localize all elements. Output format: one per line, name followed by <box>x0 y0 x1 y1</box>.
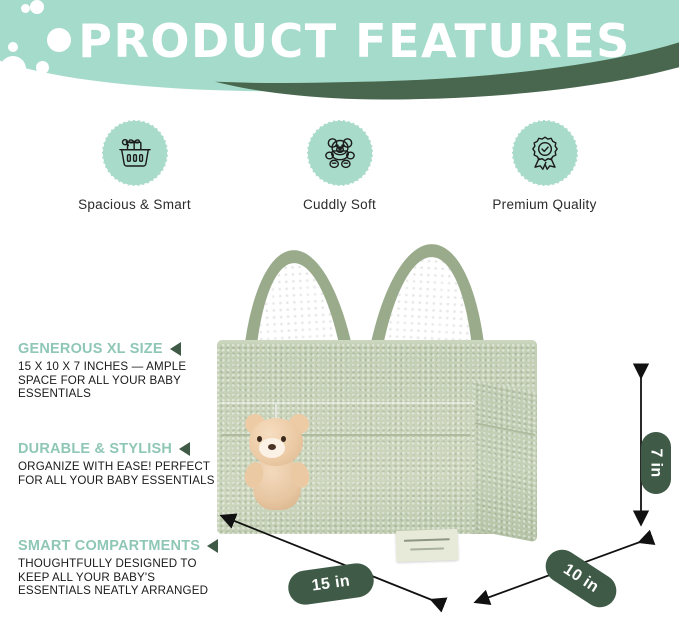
feature-body: ORGANIZE WITH EASE! PERFECT FOR ALL YOUR… <box>18 460 218 487</box>
decorative-bubble <box>30 0 44 14</box>
feature-heading-row: DURABLE & STYLISH <box>18 441 218 457</box>
teddy-nose <box>268 444 276 450</box>
pointer-triangle-icon <box>179 442 190 456</box>
header-banner: PRODUCT FEATURES <box>0 0 679 118</box>
dimension-depth-label: 10 in <box>560 560 602 596</box>
dimension-pill-width: 15 in <box>286 561 376 607</box>
dimension-pill-height: 7 in <box>641 432 671 494</box>
feature-generous-xl-size: GENEROUS XL SIZE 15 X 10 X 7 INCHES — AM… <box>18 341 218 401</box>
dimension-width-label: 15 in <box>311 572 352 595</box>
teddy-bear-charm <box>237 404 315 512</box>
teddy-eye <box>281 436 286 442</box>
pointer-triangle-icon <box>207 539 218 553</box>
feature-smart-compartments: SMART COMPARTMENTS THOUGHTFULLY DESIGNED… <box>18 538 218 598</box>
feature-heading: SMART COMPARTMENTS <box>18 538 200 554</box>
dimension-height-label: 7 in <box>647 448 665 477</box>
feature-heading: DURABLE & STYLISH <box>18 441 172 457</box>
icon-block-cuddly-soft: Cuddly Soft <box>262 118 417 223</box>
icon-block-spacious-smart: Spacious & Smart <box>57 118 212 223</box>
feature-heading: GENEROUS XL SIZE <box>18 341 163 357</box>
icon-block-premium-quality: Premium Quality <box>467 118 622 223</box>
basket-icon <box>102 120 168 186</box>
teddy-bear-icon <box>307 120 373 186</box>
page-title: PRODUCT FEATURES <box>0 14 679 68</box>
pointer-triangle-icon <box>170 342 181 356</box>
icon-label: Cuddly Soft <box>262 197 417 212</box>
feature-heading-row: GENEROUS XL SIZE <box>18 341 218 357</box>
teddy-eye <box>257 436 262 442</box>
feature-durable-stylish: DURABLE & STYLISH ORGANIZE WITH EASE! PE… <box>18 441 218 487</box>
brand-label-patch <box>395 529 458 562</box>
feature-body: 15 X 10 X 7 INCHES — AMPLE SPACE FOR ALL… <box>18 360 218 401</box>
bottom-edge <box>0 621 679 625</box>
feature-body: THOUGHTFULLY DESIGNED TO KEEP ALL YOUR B… <box>18 557 218 598</box>
product-image <box>195 232 625 562</box>
icon-label: Premium Quality <box>467 197 622 212</box>
award-badge-icon <box>512 120 578 186</box>
feature-heading-row: SMART COMPARTMENTS <box>18 538 218 554</box>
feature-icon-row: Spacious & Smart Cuddly Soft <box>0 118 679 223</box>
icon-label: Spacious & Smart <box>57 197 212 212</box>
decorative-bubble <box>21 4 30 13</box>
